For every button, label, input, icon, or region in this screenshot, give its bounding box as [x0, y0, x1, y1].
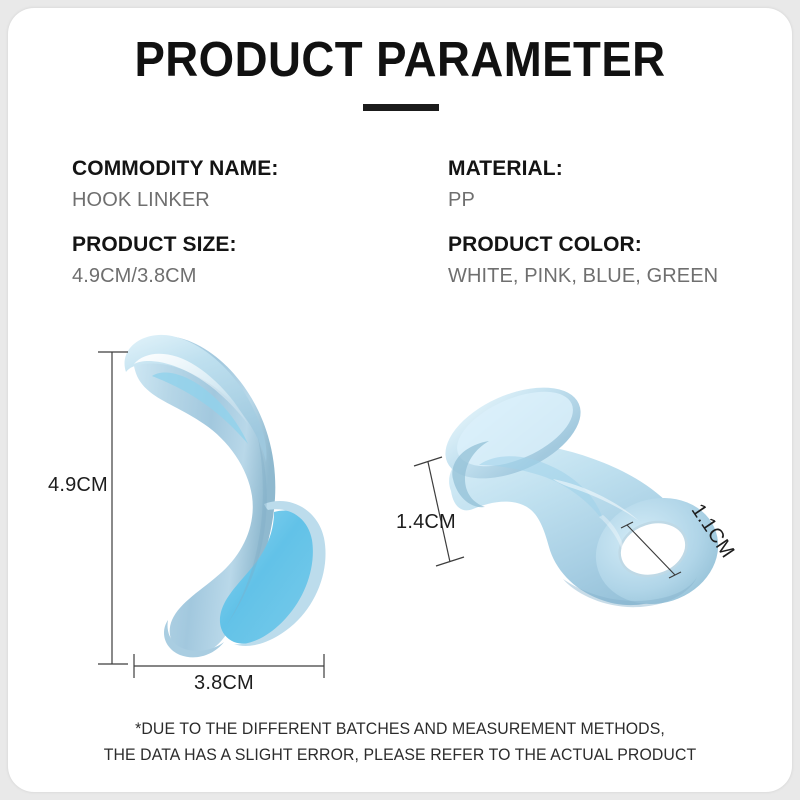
dimension-line-height-4-9cm — [94, 344, 134, 674]
dimension-label-depth: 1.4CM — [396, 511, 456, 534]
dimension-label-width: 3.8CM — [194, 672, 254, 695]
spec-value-product-color: WHITE, PINK, BLUE, GREEN — [448, 266, 718, 286]
product-parameter-card: PRODUCT PARAMETER COMMODITY NAME: HOOK L… — [8, 8, 792, 792]
spec-label-commodity-name: COMMODITY NAME: — [72, 158, 278, 179]
spec-label-product-color: PRODUCT COLOR: — [448, 234, 718, 255]
spec-column-left: COMMODITY NAME: HOOK LINKER PRODUCT SIZE… — [72, 158, 278, 286]
footer-disclaimer: *DUE TO THE DIFFERENT BATCHES AND MEASUR… — [24, 716, 777, 768]
spec-label-product-size: PRODUCT SIZE: — [72, 234, 278, 255]
spec-column-right: MATERIAL: PP PRODUCT COLOR: WHITE, PINK,… — [448, 158, 718, 286]
spec-value-commodity-name: HOOK LINKER — [72, 190, 278, 210]
spec-label-material: MATERIAL: — [448, 158, 718, 179]
page-title: PRODUCT PARAMETER — [35, 32, 764, 88]
dimension-label-height: 4.9CM — [48, 474, 108, 497]
spec-value-material: PP — [448, 190, 718, 210]
footer-line-1: *DUE TO THE DIFFERENT BATCHES AND MEASUR… — [24, 716, 777, 742]
spec-value-product-size: 4.9CM/3.8CM — [72, 266, 278, 286]
footer-line-2: THE DATA HAS A SLIGHT ERROR, PLEASE REFE… — [24, 742, 777, 768]
title-divider-rule — [363, 104, 439, 111]
